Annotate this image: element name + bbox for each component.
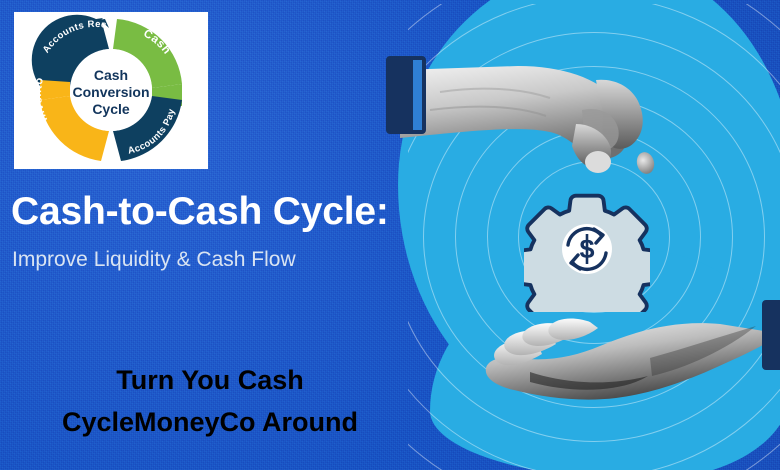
page-subtitle: Improve Liquidity & Cash Flow [12,248,296,272]
cuff-edge-highlight [413,60,422,130]
bottom-sleeve-cuff [762,300,780,370]
cuff-inner-bottom [766,304,780,366]
bottom-caption-line-2: CycleMoneyCo Around [0,402,420,444]
bottom-hand-open-palm [470,310,770,430]
top-sleeve-cuff [386,56,426,134]
cash-conversion-cycle-thumbnail: Accounts Receivable Cash Accounts Payabl… [14,12,208,169]
top-hand-dropping-coin [400,52,670,182]
slide-canvas: $ [0,0,780,470]
bottom-caption: Turn You Cash CycleMoneyCo Around [0,360,420,444]
thumbnail-title-line-1: Cash [94,67,128,83]
page-title: Cash-to-Cash Cycle: [11,190,389,235]
gear-icon: $ [524,186,650,312]
thumbnail-title-line-3: Cycle [92,101,130,117]
bottom-caption-line-1: Turn You Cash [0,360,420,402]
thumbnail-title-line-2: Conversion [72,84,149,100]
